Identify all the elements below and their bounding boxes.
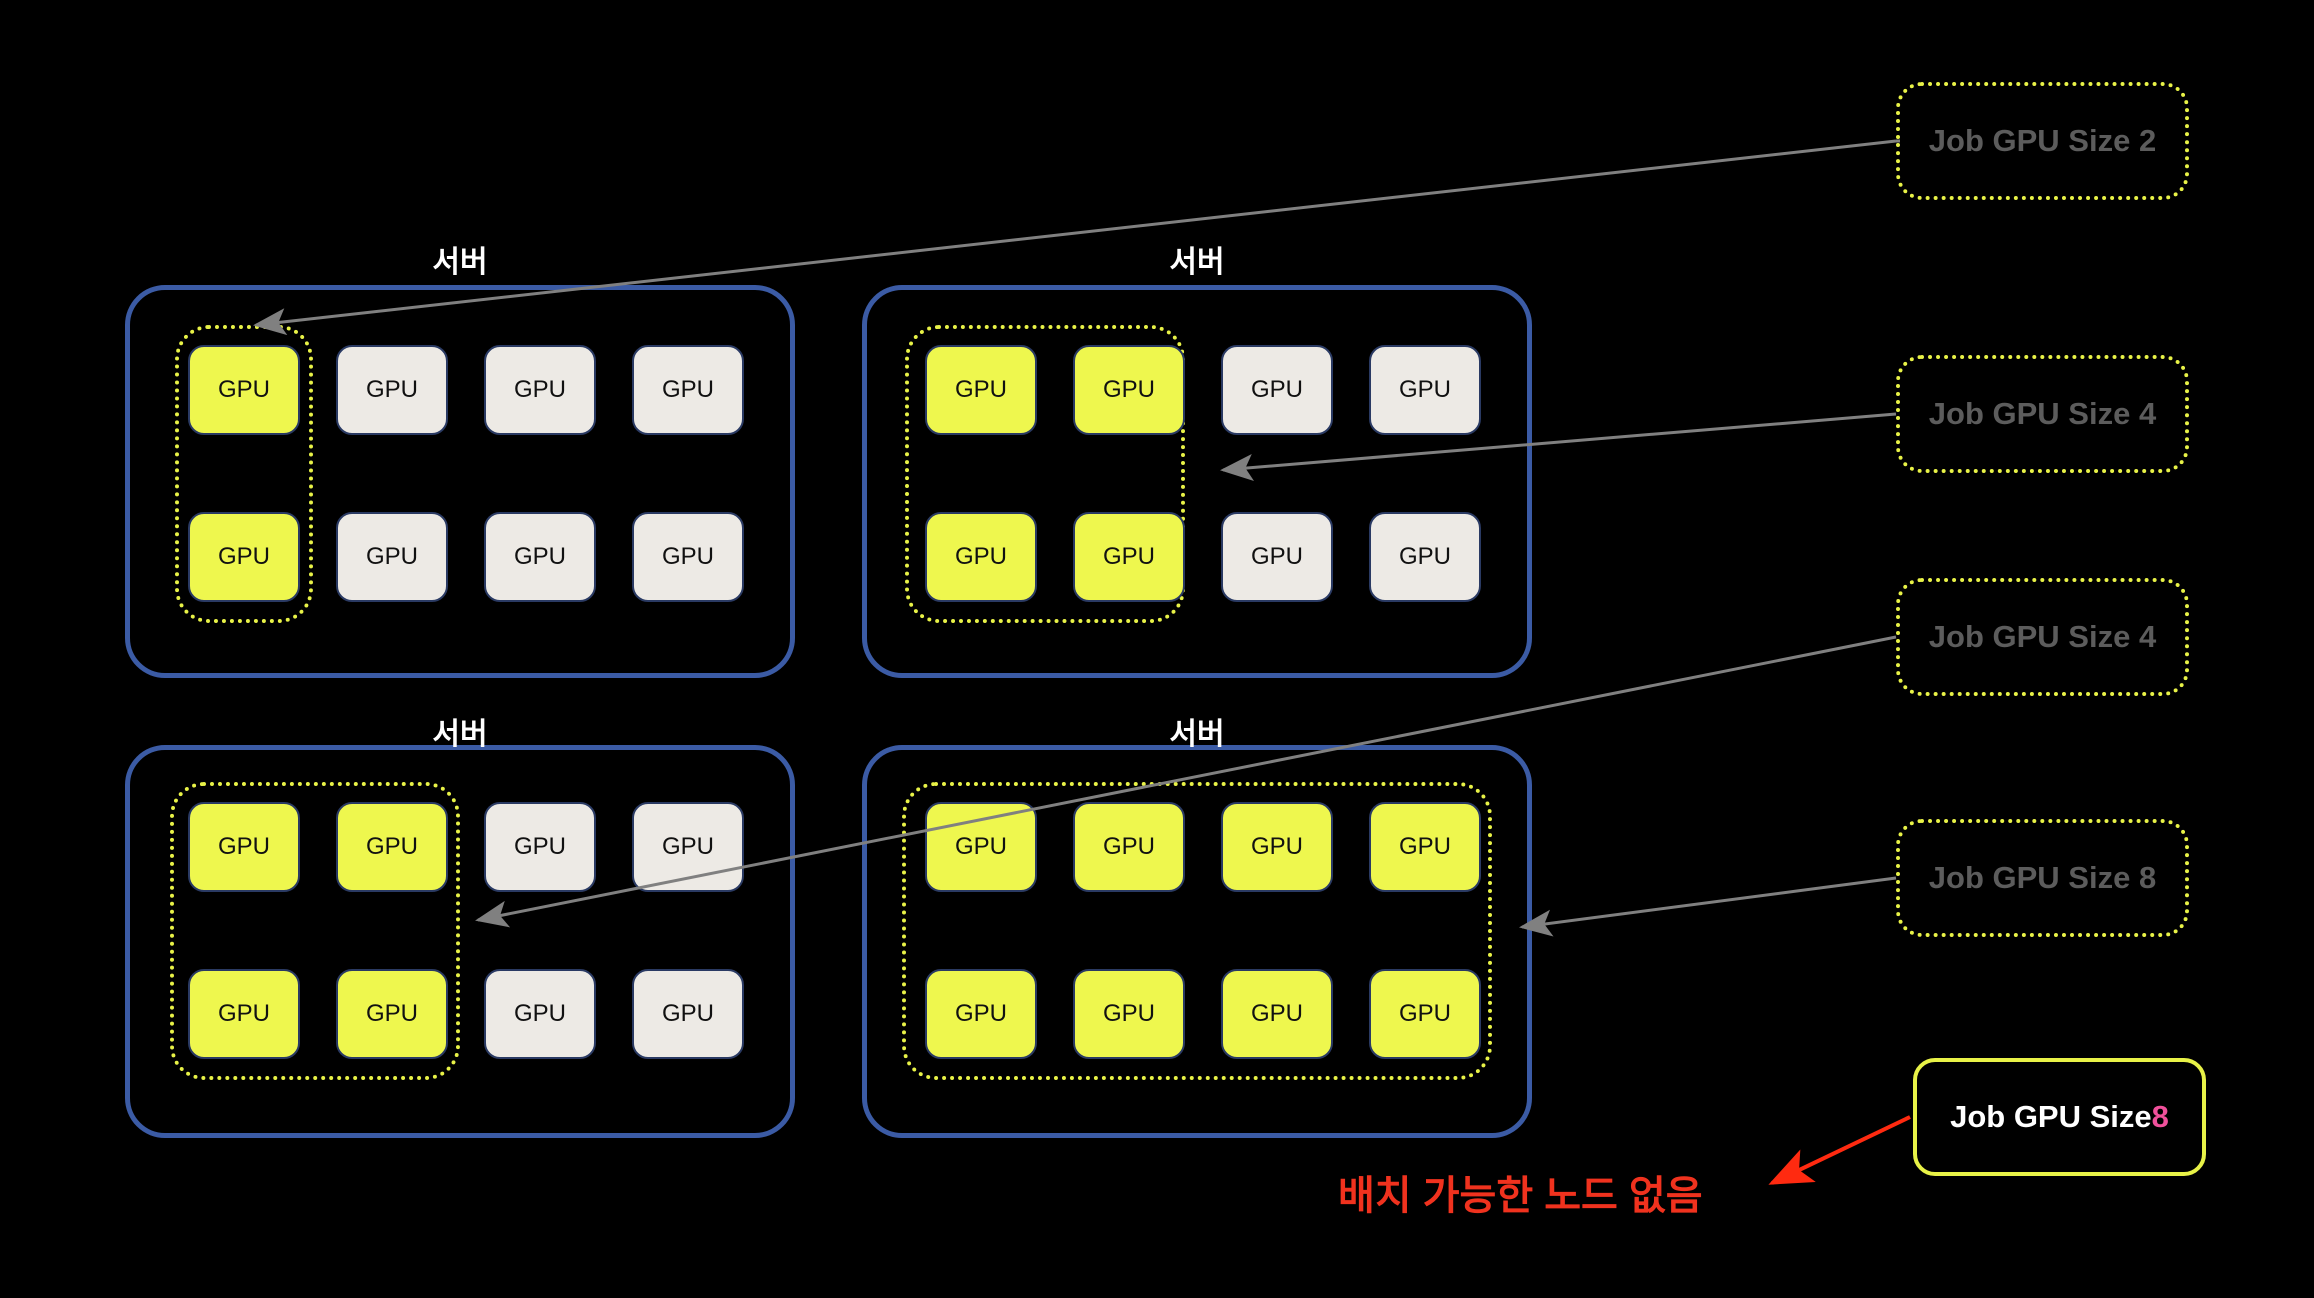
- gpu-label: GPU: [366, 1000, 418, 1028]
- server-2-gpu-5[interactable]: GPU: [1073, 512, 1185, 602]
- server-4-gpu-2[interactable]: GPU: [1221, 802, 1333, 892]
- gpu-label: GPU: [955, 1000, 1007, 1028]
- gpu-label: GPU: [514, 1000, 566, 1028]
- gpu-label: GPU: [218, 543, 270, 571]
- server-3-gpu-3[interactable]: GPU: [632, 802, 744, 892]
- gpu-label: GPU: [1103, 833, 1155, 861]
- gpu-label: GPU: [1251, 833, 1303, 861]
- gpu-label: GPU: [514, 376, 566, 404]
- gpu-label: GPU: [218, 833, 270, 861]
- gpu-label: GPU: [955, 543, 1007, 571]
- gpu-label: GPU: [1251, 543, 1303, 571]
- server-2-gpu-3[interactable]: GPU: [1369, 345, 1481, 435]
- server-1-gpu-3[interactable]: GPU: [632, 345, 744, 435]
- server-4-gpu-4[interactable]: GPU: [925, 969, 1037, 1059]
- server-1-gpu-1[interactable]: GPU: [336, 345, 448, 435]
- gpu-label: GPU: [218, 1000, 270, 1028]
- job-chip-label: Job GPU Size 4: [1929, 619, 2156, 655]
- gpu-label: GPU: [366, 543, 418, 571]
- server-3-gpu-7[interactable]: GPU: [632, 969, 744, 1059]
- job-chip-size-4-b[interactable]: Job GPU Size 4: [1896, 578, 2189, 696]
- server-4-gpu-7[interactable]: GPU: [1369, 969, 1481, 1059]
- server-4-label: 서버: [862, 720, 1532, 750]
- gpu-label: GPU: [366, 376, 418, 404]
- diagram-canvas: 서버 GPU GPU GPU GPU GPU GPU GPU GPU 서버 GP…: [0, 0, 2314, 1298]
- gpu-label: GPU: [1103, 1000, 1155, 1028]
- arrow-job4-to-server4: [1522, 878, 1896, 927]
- no-placeable-node-warning: 배치 가능한 노드 없음: [1338, 1163, 1703, 1221]
- gpu-label: GPU: [1399, 376, 1451, 404]
- job-chip-label: Job GPU Size 4: [1929, 396, 2156, 432]
- gpu-label: GPU: [514, 833, 566, 861]
- gpu-label: GPU: [1399, 543, 1451, 571]
- server-1-gpu-6[interactable]: GPU: [484, 512, 596, 602]
- server-2-label: 서버: [862, 248, 1532, 278]
- server-2-gpu-1[interactable]: GPU: [1073, 345, 1185, 435]
- gpu-label: GPU: [218, 376, 270, 404]
- server-3-gpu-4[interactable]: GPU: [188, 969, 300, 1059]
- server-2-gpu-2[interactable]: GPU: [1221, 345, 1333, 435]
- server-1-gpu-7[interactable]: GPU: [632, 512, 744, 602]
- server-4-gpu-3[interactable]: GPU: [1369, 802, 1481, 892]
- warning-text: 배치 가능한 노드 없음: [1338, 1174, 1703, 1218]
- server-4-gpu-6[interactable]: GPU: [1221, 969, 1333, 1059]
- job-chip-size-value: 8: [2152, 1099, 2169, 1135]
- server-2-gpu-7[interactable]: GPU: [1369, 512, 1481, 602]
- server-1-label: 서버: [125, 248, 795, 278]
- gpu-label: GPU: [662, 833, 714, 861]
- gpu-label: GPU: [366, 833, 418, 861]
- job-chip-label-prefix: Job GPU Size: [1950, 1099, 2152, 1135]
- gpu-label: GPU: [955, 376, 1007, 404]
- gpu-label: GPU: [1399, 833, 1451, 861]
- gpu-label: GPU: [1399, 1000, 1451, 1028]
- server-2-gpu-0[interactable]: GPU: [925, 345, 1037, 435]
- server-2-gpu-6[interactable]: GPU: [1221, 512, 1333, 602]
- arrow-unplaceable-warning: [1772, 1117, 1910, 1183]
- job-chip-unplaceable[interactable]: Job GPU Size 8: [1913, 1058, 2206, 1176]
- server-2-gpu-4[interactable]: GPU: [925, 512, 1037, 602]
- server-3-gpu-6[interactable]: GPU: [484, 969, 596, 1059]
- job-chip-label: Job GPU Size 8: [1929, 860, 2156, 896]
- server-3-gpu-2[interactable]: GPU: [484, 802, 596, 892]
- gpu-label: GPU: [662, 1000, 714, 1028]
- server-1-gpu-4[interactable]: GPU: [188, 512, 300, 602]
- gpu-label: GPU: [514, 543, 566, 571]
- server-1-gpu-5[interactable]: GPU: [336, 512, 448, 602]
- server-1-gpu-0[interactable]: GPU: [188, 345, 300, 435]
- gpu-label: GPU: [662, 376, 714, 404]
- job-chip-size-4-a[interactable]: Job GPU Size 4: [1896, 355, 2189, 473]
- gpu-label: GPU: [1103, 376, 1155, 404]
- server-4-gpu-0[interactable]: GPU: [925, 802, 1037, 892]
- job-chip-size-8[interactable]: Job GPU Size 8: [1896, 819, 2189, 937]
- gpu-label: GPU: [1251, 1000, 1303, 1028]
- server-3-label: 서버: [125, 720, 795, 750]
- server-3-gpu-1[interactable]: GPU: [336, 802, 448, 892]
- gpu-label: GPU: [1251, 376, 1303, 404]
- server-1-gpu-2[interactable]: GPU: [484, 345, 596, 435]
- gpu-label: GPU: [662, 543, 714, 571]
- server-4-gpu-1[interactable]: GPU: [1073, 802, 1185, 892]
- job-chip-size-2[interactable]: Job GPU Size 2: [1896, 82, 2189, 200]
- server-4-gpu-5[interactable]: GPU: [1073, 969, 1185, 1059]
- job-chip-label: Job GPU Size 2: [1929, 123, 2156, 159]
- server-3-gpu-0[interactable]: GPU: [188, 802, 300, 892]
- gpu-label: GPU: [955, 833, 1007, 861]
- server-3-gpu-5[interactable]: GPU: [336, 969, 448, 1059]
- gpu-label: GPU: [1103, 543, 1155, 571]
